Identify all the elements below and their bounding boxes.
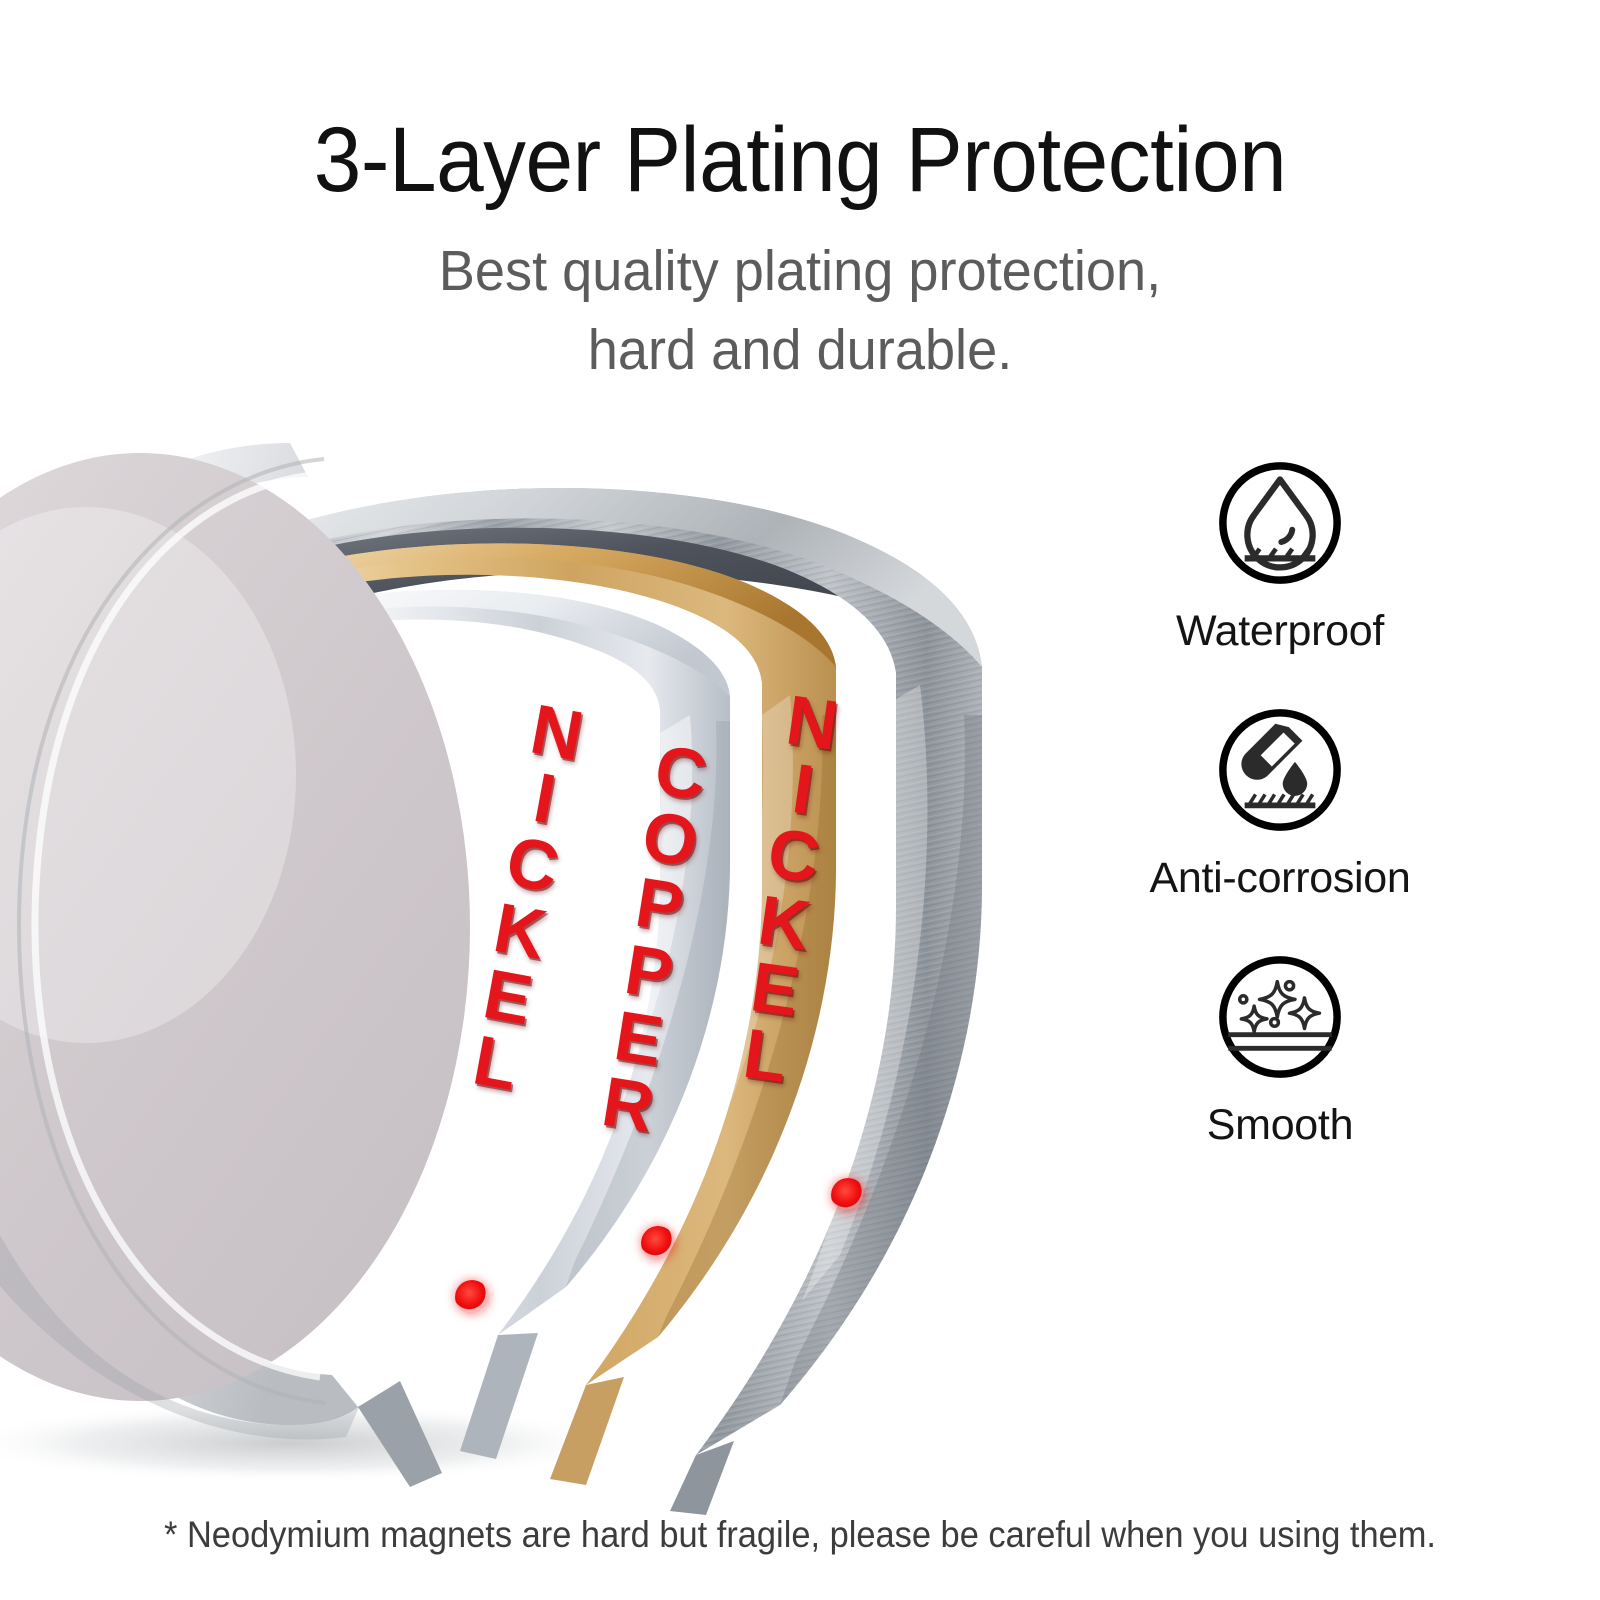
feature-label-anti-corrosion: Anti-corrosion bbox=[1130, 854, 1430, 903]
infographic-canvas: 3-Layer Plating Protection Best quality … bbox=[0, 0, 1600, 1600]
smooth-sparkle-icon bbox=[1212, 949, 1348, 1085]
layer-label-letter: R bbox=[585, 1066, 671, 1144]
feature-item-waterproof: Waterproof bbox=[1130, 455, 1430, 656]
layer-label-letter: L bbox=[723, 1017, 808, 1094]
layer-marker-dot-nickel-outer bbox=[831, 1178, 865, 1212]
layer-label-letter: K bbox=[742, 884, 827, 961]
page-title: 3-Layer Plating Protection bbox=[56, 108, 1544, 213]
page-subtitle: Best quality plating protection, hard an… bbox=[40, 232, 1560, 389]
layer-marker-dot-nickel-inner bbox=[455, 1280, 489, 1314]
feature-list: Waterproof bbox=[1130, 455, 1430, 1196]
anti-corrosion-testtube-icon bbox=[1212, 702, 1348, 838]
page-subtitle-line-1: Best quality plating protection, bbox=[40, 232, 1560, 311]
footnote-text: * Neodymium magnets are hard but fragile… bbox=[56, 1514, 1544, 1556]
layer-label-letter: L bbox=[452, 1023, 539, 1103]
feature-item-anti-corrosion: Anti-corrosion bbox=[1130, 702, 1430, 903]
feature-item-smooth: Smooth bbox=[1130, 949, 1430, 1150]
feature-label-smooth: Smooth bbox=[1130, 1101, 1430, 1150]
layer-marker-dot-copper bbox=[641, 1226, 675, 1260]
page-subtitle-line-2: hard and durable. bbox=[40, 311, 1560, 390]
waterproof-droplet-icon bbox=[1212, 455, 1348, 591]
magnet-layer-diagram bbox=[0, 415, 1110, 1535]
feature-label-waterproof: Waterproof bbox=[1130, 607, 1430, 656]
